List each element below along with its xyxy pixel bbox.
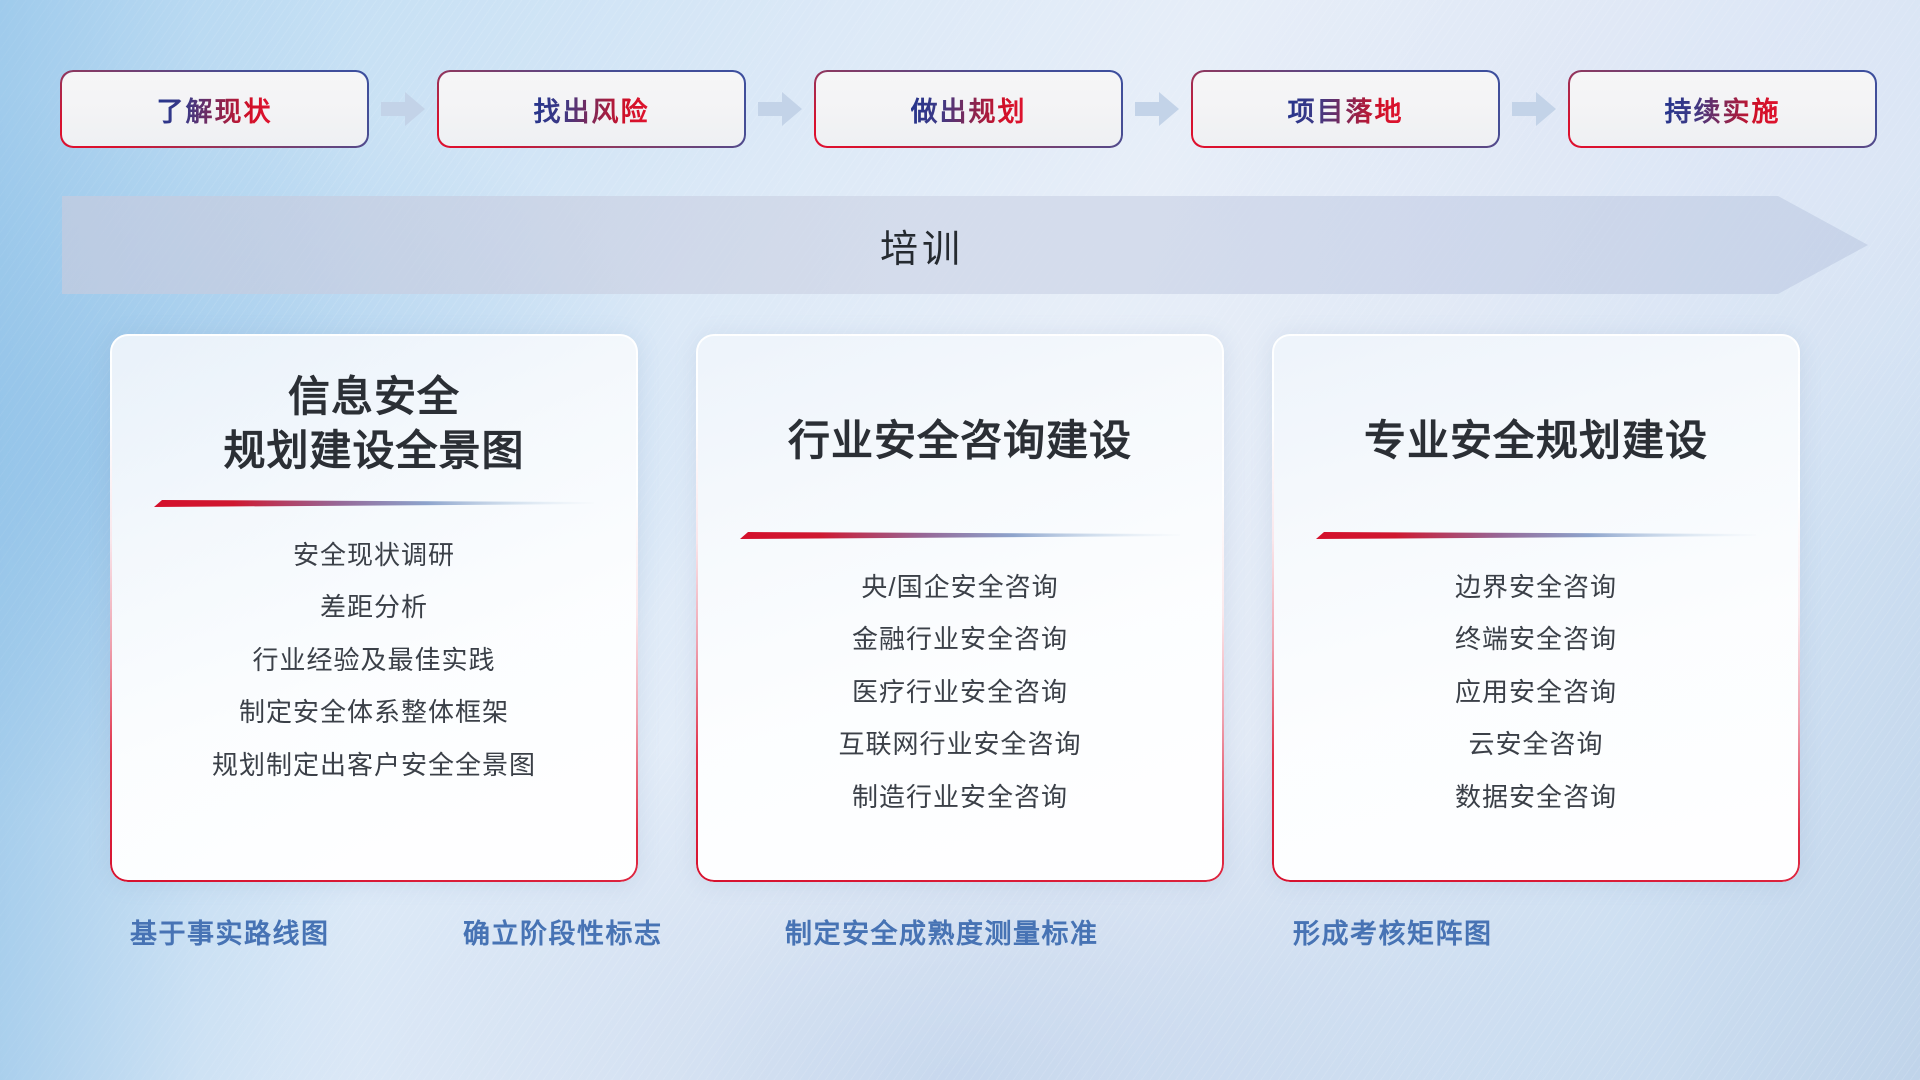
step-label: 做出规划 [911, 90, 1027, 129]
card-list-item: 应用安全咨询 [1455, 676, 1617, 709]
card-item-list: 安全现状调研 差距分析 行业经验及最佳实践 制定安全体系整体框架 规划制定出客户… [212, 539, 536, 782]
card-list-item: 终端安全咨询 [1455, 623, 1617, 656]
card-content: 行业安全咨询建设 [696, 334, 1224, 882]
step-label: 找出风险 [534, 90, 650, 129]
card-list-item: 金融行业安全咨询 [852, 623, 1068, 656]
gradient-divider-icon [1316, 530, 1756, 541]
service-card-2[interactable]: 行业安全咨询建设 [696, 334, 1224, 882]
service-card-group: 信息安全 规划建设全景图 [0, 334, 1920, 882]
training-banner: 培训 [62, 196, 1868, 294]
card-title-line: 规划建设全景图 [223, 424, 524, 478]
process-step-bar: 了解现状 找出风险 做出规划 项目落地 持续实施 [62, 72, 1862, 146]
step-label: 持续实施 [1665, 90, 1781, 129]
card-list-item: 安全现状调研 [293, 539, 455, 572]
card-content: 信息安全 规划建设全景图 [110, 334, 638, 882]
step-item-3[interactable]: 做出规划 [816, 72, 1121, 146]
service-card-3[interactable]: 专业安全规划建设 [1272, 334, 1800, 882]
card-list-item: 制造行业安全咨询 [852, 781, 1068, 814]
card-title-line: 行业安全咨询建设 [788, 414, 1132, 468]
arrow-right-icon [1509, 89, 1559, 129]
card-title: 专业安全规划建设 [1364, 370, 1708, 468]
card-list-item: 制定安全体系整体框架 [239, 696, 509, 729]
card-title-line: 专业安全规划建设 [1364, 414, 1708, 468]
footnote-group: 基于事实路线图 确立阶段性标志 制定安全成熟度测量标准 形成考核矩阵图 [0, 912, 1920, 964]
card-title: 行业安全咨询建设 [788, 370, 1132, 468]
card-list-item: 边界安全咨询 [1455, 571, 1617, 604]
arrow-right-icon [378, 89, 428, 129]
step-item-4[interactable]: 项目落地 [1193, 72, 1498, 146]
card-list-item: 行业经验及最佳实践 [252, 644, 495, 677]
arrow-right-icon [1132, 89, 1182, 129]
step-label: 了解现状 [157, 90, 273, 129]
arrow-right-icon [755, 89, 805, 129]
gradient-divider-icon [740, 530, 1180, 541]
card-list-item: 差距分析 [320, 591, 428, 624]
card-list-item: 云安全咨询 [1468, 728, 1603, 761]
step-item-5[interactable]: 持续实施 [1570, 72, 1875, 146]
footnote-4: 形成考核矩阵图 [1293, 912, 1493, 951]
service-card-1[interactable]: 信息安全 规划建设全景图 [110, 334, 638, 882]
footnote-2: 确立阶段性标志 [463, 912, 663, 951]
step-item-1[interactable]: 了解现状 [62, 72, 367, 146]
gradient-divider-icon [154, 498, 594, 509]
card-list-item: 数据安全咨询 [1455, 781, 1617, 814]
card-list-item: 央/国企安全咨询 [861, 571, 1058, 604]
card-list-item: 医疗行业安全咨询 [852, 676, 1068, 709]
card-item-list: 边界安全咨询 终端安全咨询 应用安全咨询 云安全咨询 数据安全咨询 [1455, 571, 1617, 814]
footnote-3: 制定安全成熟度测量标准 [785, 912, 1099, 951]
card-list-item: 互联网行业安全咨询 [838, 728, 1081, 761]
footnote-1: 基于事实路线图 [130, 912, 330, 951]
card-list-item: 规划制定出客户安全全景图 [212, 749, 536, 782]
step-item-2[interactable]: 找出风险 [439, 72, 744, 146]
card-item-list: 央/国企安全咨询 金融行业安全咨询 医疗行业安全咨询 互联网行业安全咨询 制造行… [838, 571, 1081, 814]
card-content: 专业安全规划建设 [1272, 334, 1800, 882]
banner-label-wrap: 培训 [62, 196, 1782, 294]
banner-label: 培训 [880, 218, 964, 273]
card-title: 信息安全 规划建设全景图 [223, 370, 524, 478]
step-label: 项目落地 [1288, 90, 1404, 129]
card-title-line: 信息安全 [223, 370, 524, 424]
